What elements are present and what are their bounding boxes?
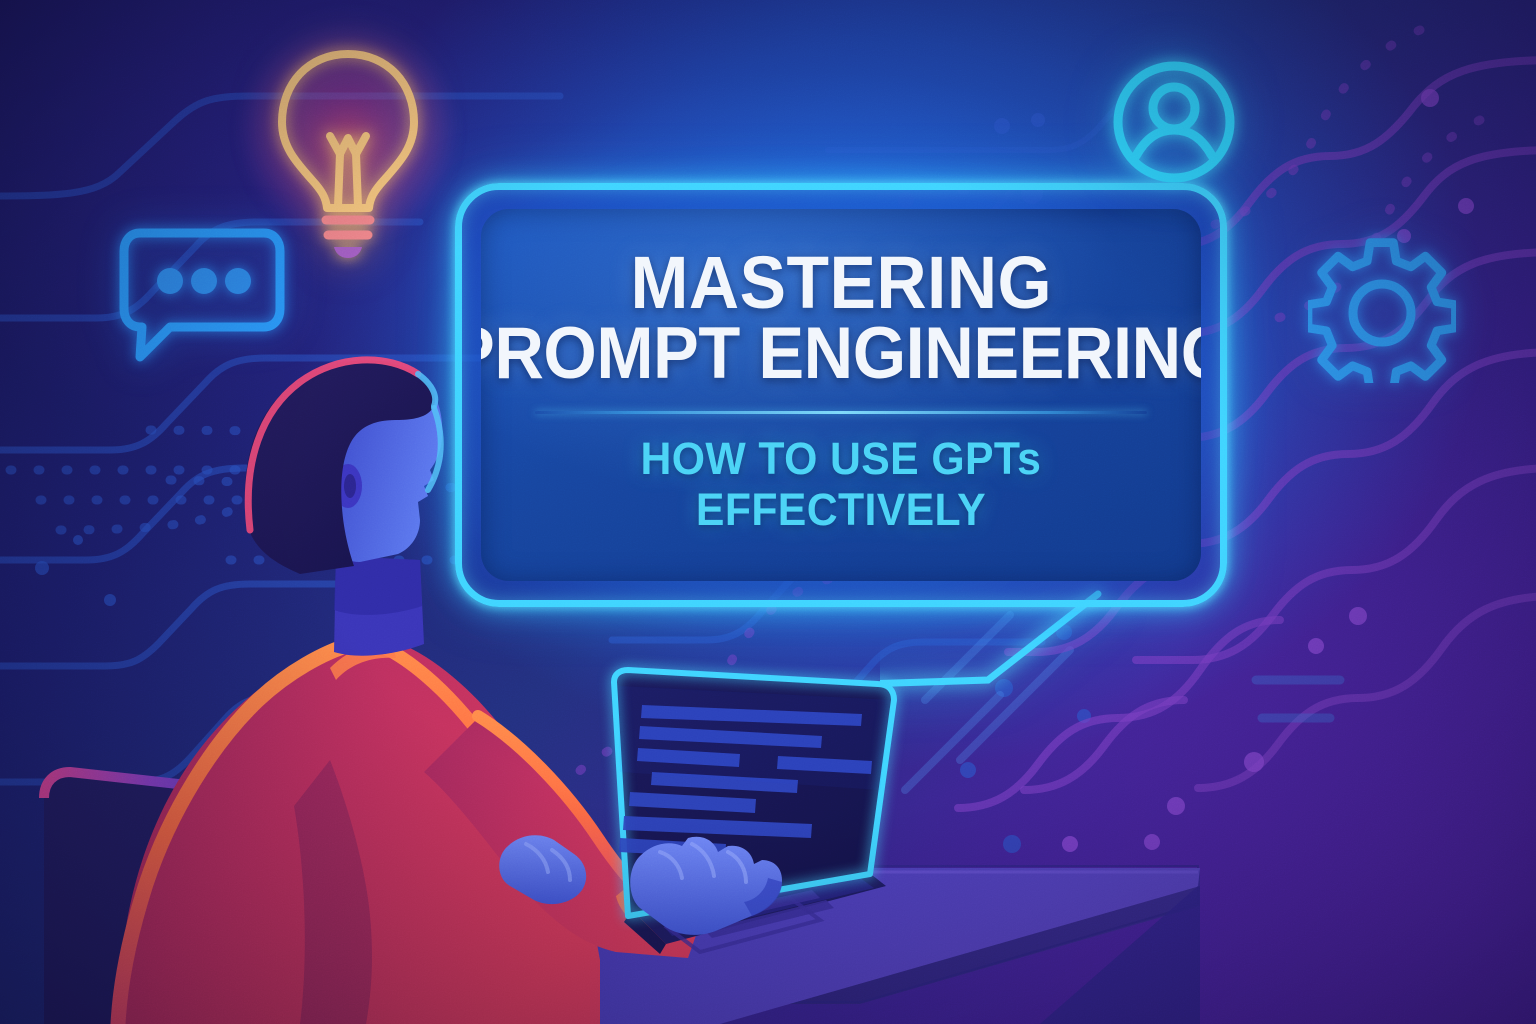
poster-canvas: MASTERING PROMPT ENGINEERING HOW TO USE … (0, 0, 1536, 1024)
vignette-overlay (0, 0, 1536, 1024)
